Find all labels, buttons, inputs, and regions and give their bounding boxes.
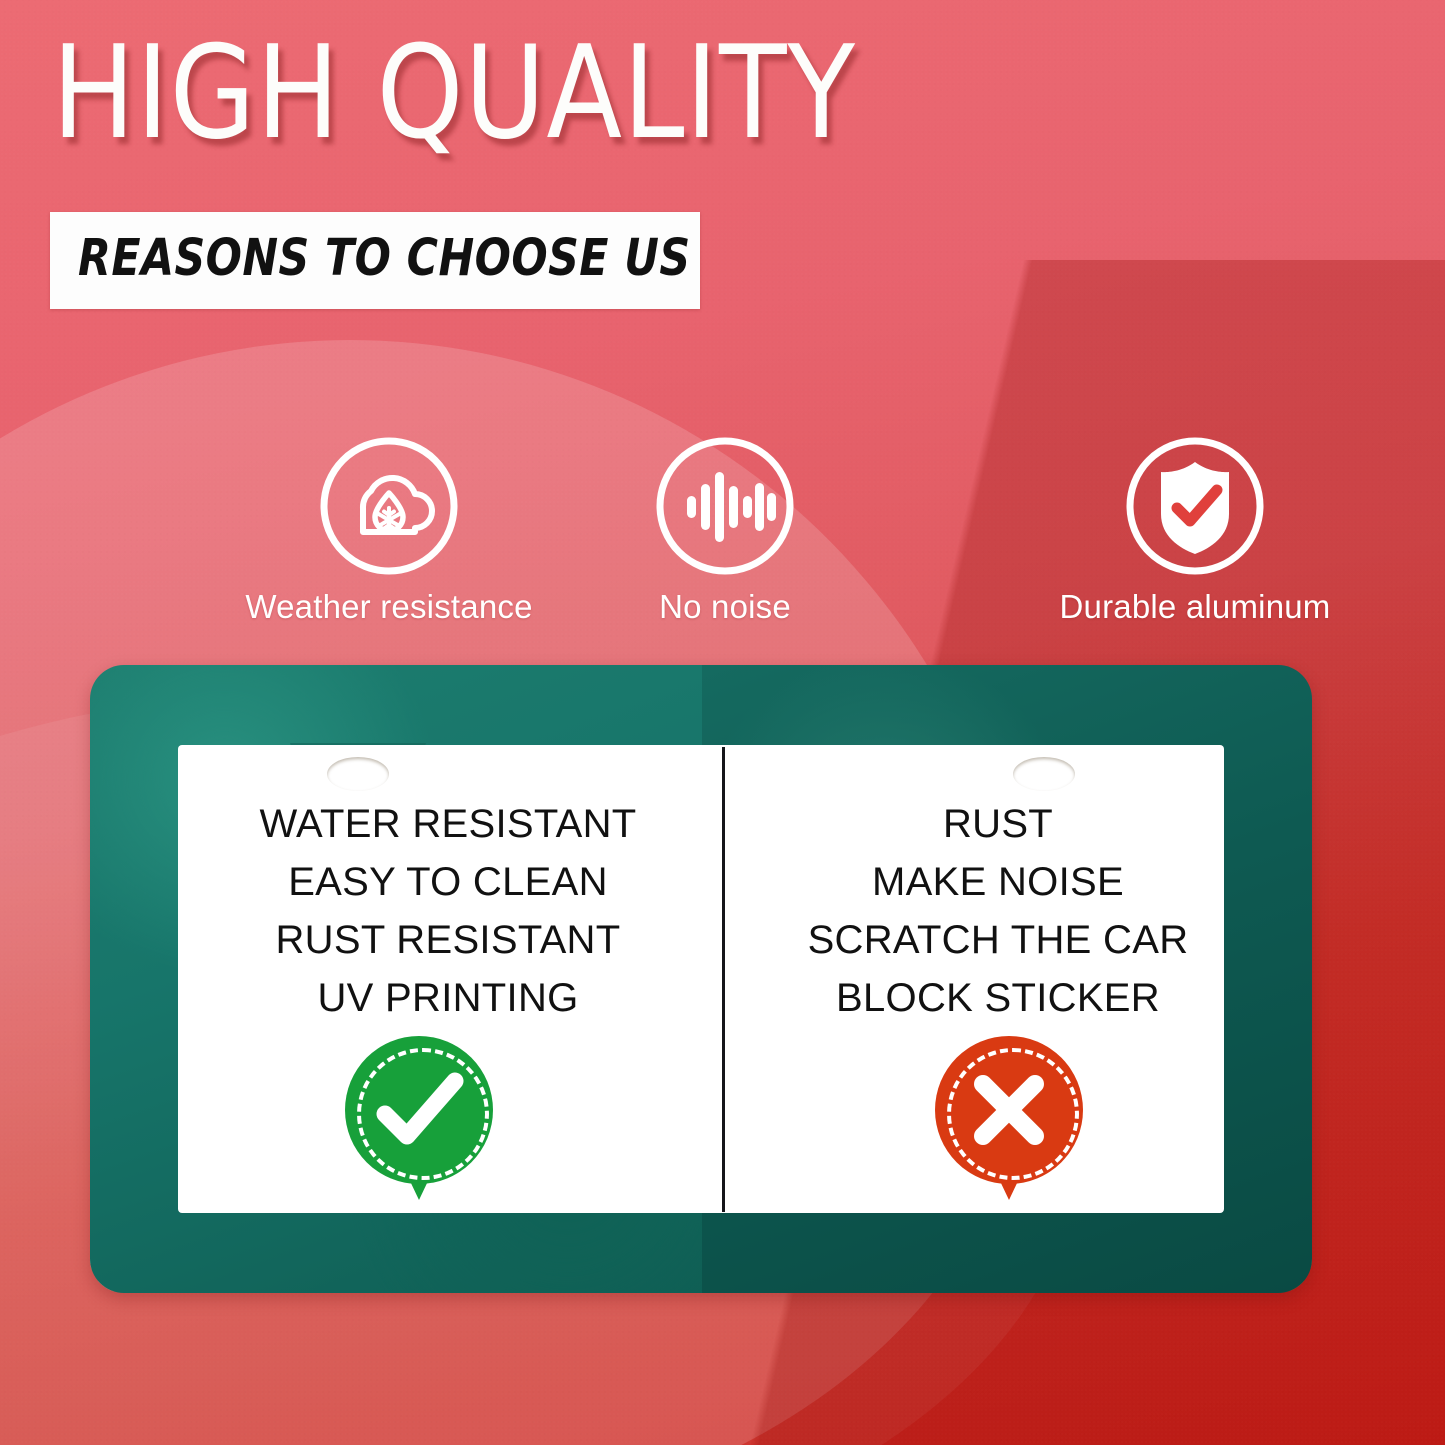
feature-durable-aluminum: Durable aluminum [900, 436, 1445, 626]
shield-check-icon [1125, 436, 1265, 576]
feature-label: Durable aluminum [900, 588, 1445, 626]
list-item: EASY TO CLEAN [178, 853, 718, 911]
mounting-hole-left-opening [290, 743, 426, 795]
feature-weather-resistance: Weather resistance [164, 436, 614, 626]
list-item: UV PRINTING [178, 969, 718, 1027]
page-title: HIGH QUALITY [52, 30, 1012, 158]
feature-label: No noise [580, 588, 870, 626]
cons-list: RUST MAKE NOISE SCRATCH THE CAR BLOCK ST… [728, 795, 1268, 1027]
screw-hole [1013, 757, 1075, 791]
check-glyph [345, 1036, 493, 1184]
sound-wave-icon [655, 436, 795, 576]
cross-badge-icon [935, 1036, 1083, 1201]
infographic-canvas: HIGH QUALITY REASONS TO CHOOSE US [0, 0, 1445, 1445]
comparison-divider [722, 747, 725, 1212]
mounting-hole-right-opening [976, 743, 1112, 795]
list-item: MAKE NOISE [728, 853, 1268, 911]
list-item: RUST [728, 795, 1268, 853]
pros-list: WATER RESISTANT EASY TO CLEAN RUST RESIS… [178, 795, 718, 1027]
cloud-droplet-snowflake-icon [319, 436, 459, 576]
list-item: SCRATCH THE CAR [728, 911, 1268, 969]
screw-hole [327, 757, 389, 791]
list-item: WATER RESISTANT [178, 795, 718, 853]
feature-row: Weather resistance No noise [0, 436, 1445, 646]
check-badge-icon [345, 1036, 493, 1201]
feature-label: Weather resistance [164, 588, 614, 626]
subheading-text: REASONS TO CHOOSE US [78, 229, 655, 288]
list-item: RUST RESISTANT [178, 911, 718, 969]
cross-glyph [935, 1036, 1083, 1184]
list-item: BLOCK STICKER [728, 969, 1268, 1027]
feature-no-noise: No noise [580, 436, 870, 626]
